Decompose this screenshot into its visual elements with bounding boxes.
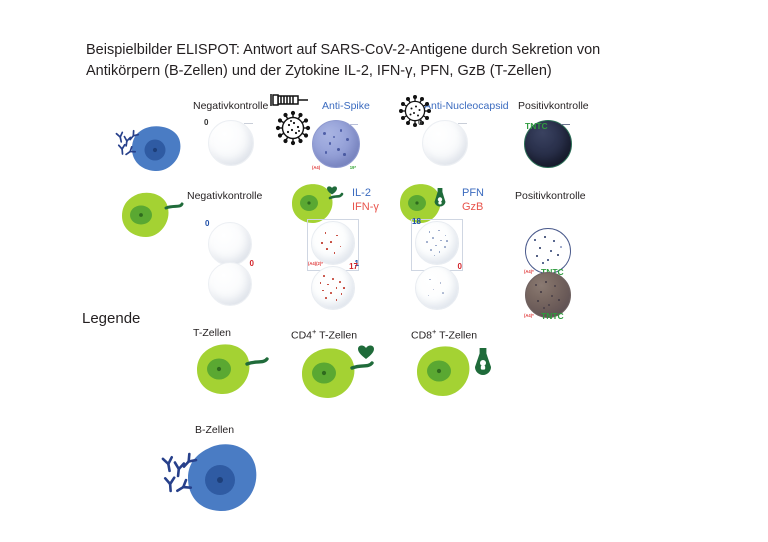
analyte-il2: IL-2: [352, 186, 379, 200]
legend-cd4-cell-icon: [290, 342, 382, 404]
well-spots: [312, 267, 354, 309]
well-surface: [312, 120, 360, 168]
analyte-pfn: PFN: [462, 186, 484, 200]
well-positive-control-row1: TNTC: [524, 120, 572, 168]
t-cell-icon: [108, 190, 186, 248]
well-surface: [208, 222, 252, 266]
well-negative-control-ifng: 0: [208, 262, 252, 306]
legend-cd8-suffix: T-Zellen: [436, 330, 477, 342]
well-surface: [311, 221, 355, 265]
well-count: 17: [349, 263, 358, 271]
well-tag-left: (A4): [312, 166, 320, 170]
figure-title: Beispielbilder ELISPOT: Antwort auf SARS…: [86, 40, 686, 82]
well-spots: [313, 121, 359, 167]
well-surface: [415, 266, 459, 310]
well-negative-control-il2: 0: [208, 222, 252, 266]
well-negative-control-row1: 0: [208, 120, 254, 166]
elispot-figure: Beispielbilder ELISPOT: Antwort auf SARS…: [0, 0, 768, 542]
well-tag-right: 19*: [350, 166, 356, 170]
analyte-labels-pfn: PFN GzB: [462, 186, 484, 214]
row2-col-negative-label: Negativkontrolle: [187, 190, 262, 202]
well-count: 0: [458, 263, 462, 271]
scale-tick: [561, 124, 570, 125]
well-surface: [208, 262, 252, 306]
analyte-labels-il2: IL-2 IFN-γ: [352, 186, 379, 214]
well-count: 18: [412, 218, 421, 226]
legend-heading: Legende: [82, 310, 140, 327]
legend-label-cd8: CD8+ T-Zellen: [411, 327, 477, 342]
well-antigen-pfn: 18: [415, 221, 459, 265]
well-positive-control-ifng: (A4)* TNTC: [525, 272, 571, 318]
legend-b-cell-icon: [158, 440, 278, 520]
legend-cd4-suffix: T-Zellen: [316, 330, 357, 342]
well-surface: [208, 120, 254, 166]
well-spots: [416, 267, 458, 309]
syringe-virus-icon: [268, 92, 318, 150]
well-count: 0: [250, 260, 254, 268]
legend-cd4-text: CD4: [291, 330, 312, 342]
well-tag-left: (A4)*: [524, 314, 534, 318]
well-surface: [422, 120, 468, 166]
well-anti-spike: (A4) 19*: [312, 120, 360, 168]
row1-col-antinucleocapsid-label: Anti-Nucleocapsid: [424, 100, 509, 112]
row1-col-antispike-label: Anti-Spike: [322, 100, 370, 112]
legend-cd8-text: CD8: [411, 330, 432, 342]
analyte-ifng: IFN-γ: [352, 200, 379, 214]
well-count: TNTC: [541, 312, 564, 321]
well-count: 0: [204, 119, 208, 127]
well-anti-nucleocapsid: 0: [422, 120, 468, 166]
legend-label-b-zellen: B-Zellen: [195, 424, 234, 436]
row2-col-positive-label: Positivkontrolle: [515, 190, 586, 202]
legend-cd8-cell-icon: [405, 342, 501, 404]
well-count: TNTC: [525, 122, 548, 131]
well-positive-control-il2: (A4)* TNTC: [525, 228, 571, 274]
well-spots: [416, 222, 458, 264]
well-antigen-ifng: 17: [311, 266, 355, 310]
well-antigen-il2: (A4)(2)* 1: [311, 221, 355, 265]
scale-tick: [244, 123, 253, 124]
b-cell-icon: [112, 122, 192, 177]
scale-tick: [458, 123, 467, 124]
well-spots: [312, 222, 354, 264]
well-surface: [415, 221, 459, 265]
analyte-gzb: GzB: [462, 200, 484, 214]
well-surface: [311, 266, 355, 310]
well-count: 0: [205, 220, 209, 228]
legend-t-cell-icon: [185, 342, 275, 404]
title-line-2: Antikörpern (B-Zellen) und der Zytokine …: [86, 61, 686, 82]
row1-col-negative-label: Negativkontrolle: [193, 100, 268, 112]
well-count: 0: [418, 119, 422, 127]
title-line-1: Beispielbilder ELISPOT: Antwort auf SARS…: [86, 40, 686, 61]
legend-label-cd4: CD4+ T-Zellen: [291, 327, 357, 342]
legend-label-t-zellen: T-Zellen: [193, 327, 231, 339]
row1-col-positive-label: Positivkontrolle: [518, 100, 589, 112]
scale-tick: [349, 124, 358, 125]
well-antigen-gzb: 0: [415, 266, 459, 310]
